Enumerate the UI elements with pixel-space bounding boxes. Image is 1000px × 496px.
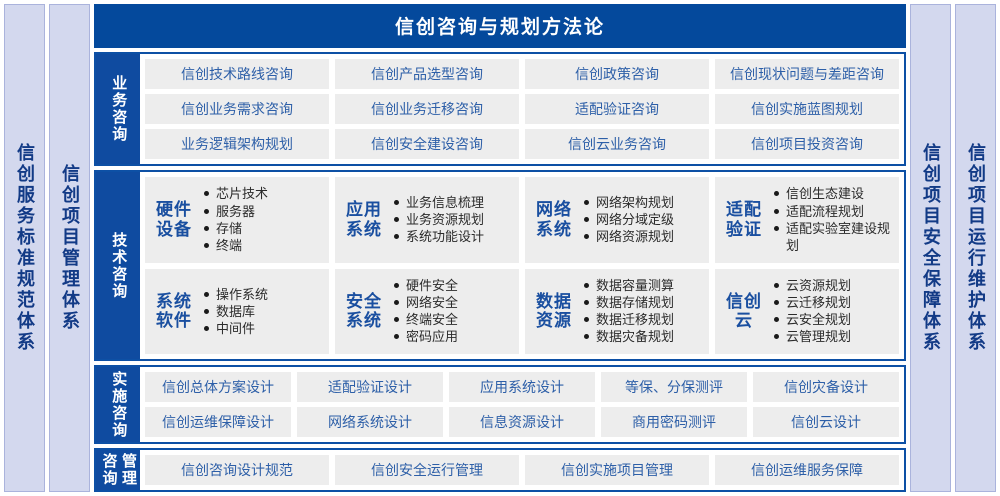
list-item: 硬件安全: [393, 277, 513, 294]
technical-card-adaptation[interactable]: 适配 验证 信创生态建设 适配流程规划 适配实验室建设规划: [715, 177, 899, 263]
technical-card-network[interactable]: 网络 系统 网络架构规划 网络分域定级 网络资源规划: [525, 177, 709, 263]
chip-item[interactable]: 网络系统设计: [297, 407, 443, 437]
list-item: 云资源规划: [773, 277, 893, 294]
technical-card-system-software[interactable]: 系统 软件 操作系统 数据库 中间件: [145, 269, 329, 355]
chip-item[interactable]: 适配验证设计: [297, 372, 443, 402]
chip-item[interactable]: 信创灾备设计: [753, 372, 899, 402]
section-body-technical: 硬件 设备 芯片技术 服务器 存储 终端: [140, 172, 904, 359]
chip-item[interactable]: 信创运维服务保障: [715, 455, 899, 485]
section-technical-consulting: 技术咨询 硬件 设备 芯片技术 服务器 存储: [94, 170, 906, 361]
section-business-consulting: 业务咨询 信创技术路线咨询 信创产品选型咨询 信创政策咨询 信创现状问题与差距咨…: [94, 52, 906, 166]
technical-card-title: 安全 系统: [341, 292, 387, 331]
list-item: 芯片技术: [203, 185, 323, 202]
technical-card-hardware[interactable]: 硬件 设备 芯片技术 服务器 存储 终端: [145, 177, 329, 263]
chip-item[interactable]: 信创运维保障设计: [145, 407, 291, 437]
chip-row: 信创咨询设计规范 信创安全运行管理 信创实施项目管理 信创运维服务保障: [145, 455, 899, 485]
list-item: 服务器: [203, 203, 323, 220]
section-label-implementation-text: 实施咨询: [110, 371, 127, 439]
list-item: 网络资源规划: [583, 228, 703, 245]
section-label-governance: 咨询 管理: [96, 450, 140, 490]
chip-item[interactable]: 信创现状问题与差距咨询: [715, 59, 899, 89]
section-label-governance-col2: 管理: [120, 453, 137, 487]
chip-row: 信创运维保障设计 网络系统设计 信息资源设计 商用密码测评 信创云设计: [145, 407, 899, 437]
pillar-right-operations-maintenance: 信创项目运行维护体系: [955, 4, 996, 492]
list-item: 云迁移规划: [773, 294, 893, 311]
section-label-technical: 技术咨询: [96, 172, 140, 359]
technical-card-title: 应用 系统: [341, 200, 387, 239]
list-item: 网络架构规划: [583, 194, 703, 211]
chip-item[interactable]: 信创实施项目管理: [525, 455, 709, 485]
pillar-right-security-assurance-label: 信创项目安全保障体系: [921, 143, 940, 353]
list-item: 终端: [203, 237, 323, 254]
pillar-left-project-management: 信创项目管理体系: [49, 4, 90, 492]
section-label-business-text: 业务咨询: [110, 75, 127, 143]
chip-item[interactable]: 信创项目投资咨询: [715, 129, 899, 159]
pillar-left-service-standard-label: 信创服务标准规范体系: [15, 143, 34, 353]
list-item: 操作系统: [203, 286, 323, 303]
list-item: 系统功能设计: [393, 228, 513, 245]
chip-item[interactable]: 信创总体方案设计: [145, 372, 291, 402]
technical-card-list: 业务信息梳理 业务资源规划 系统功能设计: [393, 194, 513, 245]
section-body-governance: 信创咨询设计规范 信创安全运行管理 信创实施项目管理 信创运维服务保障: [140, 450, 904, 490]
technical-card-list: 网络架构规划 网络分域定级 网络资源规划: [583, 194, 703, 245]
chip-item[interactable]: 等保、分保测评: [601, 372, 747, 402]
list-item: 云管理规划: [773, 328, 893, 345]
technical-card-title: 信创 云: [721, 292, 767, 331]
technical-card-title: 适配 验证: [721, 200, 767, 239]
methodology-diagram: 信创服务标准规范体系 信创项目管理体系 信创咨询与规划方法论 业务咨询 信创技术…: [0, 0, 1000, 496]
pillar-left-service-standard: 信创服务标准规范体系: [4, 4, 45, 492]
section-implementation-consulting: 实施咨询 信创总体方案设计 适配验证设计 应用系统设计 等保、分保测评 信创灾备…: [94, 365, 906, 444]
technical-card-data-resource[interactable]: 数据 资源 数据容量测算 数据存储规划 数据迁移规划 数据灾备规划: [525, 269, 709, 355]
pillar-right-operations-maintenance-label: 信创项目运行维护体系: [966, 143, 985, 353]
chip-row: 业务逻辑架构规划 信创安全建设咨询 信创云业务咨询 信创项目投资咨询: [145, 129, 899, 159]
chip-item[interactable]: 信创云业务咨询: [525, 129, 709, 159]
chip-row: 信创业务需求咨询 信创业务迁移咨询 适配验证咨询 信创实施蓝图规划: [145, 94, 899, 124]
list-item: 业务资源规划: [393, 211, 513, 228]
section-body-implementation: 信创总体方案设计 适配验证设计 应用系统设计 等保、分保测评 信创灾备设计 信创…: [140, 367, 904, 442]
list-item: 数据容量测算: [583, 277, 703, 294]
section-label-technical-text: 技术咨询: [110, 232, 127, 300]
chip-item[interactable]: 信创云设计: [753, 407, 899, 437]
chip-item[interactable]: 业务逻辑架构规划: [145, 129, 329, 159]
list-item: 信创生态建设: [773, 185, 893, 202]
pillar-right-security-assurance: 信创项目安全保障体系: [910, 4, 951, 492]
technical-card-title: 系统 软件: [151, 292, 197, 331]
chip-item[interactable]: 信创政策咨询: [525, 59, 709, 89]
chip-item[interactable]: 信创咨询设计规范: [145, 455, 329, 485]
chip-item[interactable]: 信创技术路线咨询: [145, 59, 329, 89]
technical-card-row: 系统 软件 操作系统 数据库 中间件 安全: [145, 269, 899, 355]
list-item: 存储: [203, 220, 323, 237]
list-item: 适配流程规划: [773, 203, 893, 220]
chip-item[interactable]: 信创实施蓝图规划: [715, 94, 899, 124]
technical-card-cloud[interactable]: 信创 云 云资源规划 云迁移规划 云安全规划 云管理规划: [715, 269, 899, 355]
technical-card-title: 数据 资源: [531, 292, 577, 331]
section-consulting-governance: 咨询 管理 信创咨询设计规范 信创安全运行管理 信创实施项目管理 信创运维服务保…: [94, 448, 906, 492]
chip-item[interactable]: 信创安全运行管理: [335, 455, 519, 485]
list-item: 数据迁移规划: [583, 311, 703, 328]
list-item: 数据库: [203, 303, 323, 320]
list-item: 网络分域定级: [583, 211, 703, 228]
technical-card-security[interactable]: 安全 系统 硬件安全 网络安全 终端安全 密码应用: [335, 269, 519, 355]
section-label-governance-text: 咨询 管理: [100, 453, 136, 487]
list-item: 数据灾备规划: [583, 328, 703, 345]
technical-card-title: 硬件 设备: [151, 200, 197, 239]
chip-item[interactable]: 适配验证咨询: [525, 94, 709, 124]
technical-card-title: 网络 系统: [531, 200, 577, 239]
chip-item[interactable]: 信创业务需求咨询: [145, 94, 329, 124]
section-body-business: 信创技术路线咨询 信创产品选型咨询 信创政策咨询 信创现状问题与差距咨询 信创业…: [140, 54, 904, 164]
technical-card-list: 芯片技术 服务器 存储 终端: [203, 185, 323, 254]
section-label-business: 业务咨询: [96, 54, 140, 164]
chip-item[interactable]: 信创安全建设咨询: [335, 129, 519, 159]
chip-row: 信创技术路线咨询 信创产品选型咨询 信创政策咨询 信创现状问题与差距咨询: [145, 59, 899, 89]
technical-card-row: 硬件 设备 芯片技术 服务器 存储 终端: [145, 177, 899, 263]
chip-item[interactable]: 商用密码测评: [601, 407, 747, 437]
technical-card-grid: 硬件 设备 芯片技术 服务器 存储 终端: [145, 177, 899, 354]
pillar-left-project-management-label: 信创项目管理体系: [60, 164, 79, 332]
list-item: 数据存储规划: [583, 294, 703, 311]
list-item: 业务信息梳理: [393, 194, 513, 211]
chip-row: 信创总体方案设计 适配验证设计 应用系统设计 等保、分保测评 信创灾备设计: [145, 372, 899, 402]
list-item: 云安全规划: [773, 311, 893, 328]
chip-item[interactable]: 信息资源设计: [449, 407, 595, 437]
page-title: 信创咨询与规划方法论: [94, 4, 906, 48]
list-item: 终端安全: [393, 311, 513, 328]
technical-card-list: 信创生态建设 适配流程规划 适配实验室建设规划: [773, 185, 893, 254]
technical-card-list: 硬件安全 网络安全 终端安全 密码应用: [393, 277, 513, 346]
technical-card-list: 云资源规划 云迁移规划 云安全规划 云管理规划: [773, 277, 893, 346]
section-label-implementation: 实施咨询: [96, 367, 140, 442]
technical-card-list: 操作系统 数据库 中间件: [203, 286, 323, 337]
list-item: 中间件: [203, 320, 323, 337]
technical-card-list: 数据容量测算 数据存储规划 数据迁移规划 数据灾备规划: [583, 277, 703, 346]
section-label-governance-col1: 咨询: [100, 453, 117, 487]
center-stack: 信创咨询与规划方法论 业务咨询 信创技术路线咨询 信创产品选型咨询 信创政策咨询…: [94, 4, 906, 492]
list-item: 网络安全: [393, 294, 513, 311]
chip-item[interactable]: 信创产品选型咨询: [335, 59, 519, 89]
list-item: 适配实验室建设规划: [773, 220, 893, 254]
technical-card-application[interactable]: 应用 系统 业务信息梳理 业务资源规划 系统功能设计: [335, 177, 519, 263]
list-item: 密码应用: [393, 328, 513, 345]
chip-item[interactable]: 信创业务迁移咨询: [335, 94, 519, 124]
chip-item[interactable]: 应用系统设计: [449, 372, 595, 402]
